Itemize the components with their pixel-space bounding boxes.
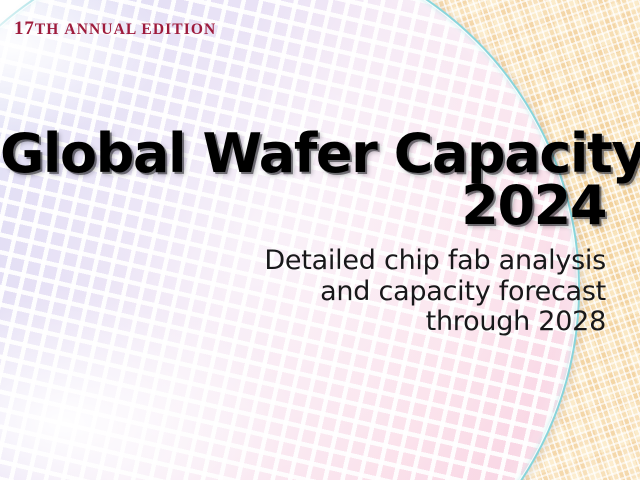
edition-badge: 17TH ANNUAL EDITION — [14, 19, 216, 38]
title-line-1: Global Wafer Capacity — [0, 128, 606, 180]
title-line-2: 2024 — [0, 180, 606, 232]
edition-number: 17 — [14, 18, 35, 39]
edition-label: ANNUAL EDITION — [64, 21, 216, 38]
subtitle-line-2: and capacity forecast — [0, 277, 606, 308]
page-title: Global Wafer Capacity 2024 — [0, 128, 606, 233]
edition-ordinal: TH — [35, 21, 60, 38]
page-subtitle: Detailed chip fab analysis and capacity … — [0, 246, 606, 338]
report-cover: 17TH ANNUAL EDITION Global Wafer Capacit… — [0, 0, 640, 480]
subtitle-line-3: through 2028 — [0, 307, 606, 338]
artwork-light-bloom — [0, 0, 640, 480]
subtitle-line-1: Detailed chip fab analysis — [0, 246, 606, 277]
wafer-artwork — [0, 0, 640, 480]
